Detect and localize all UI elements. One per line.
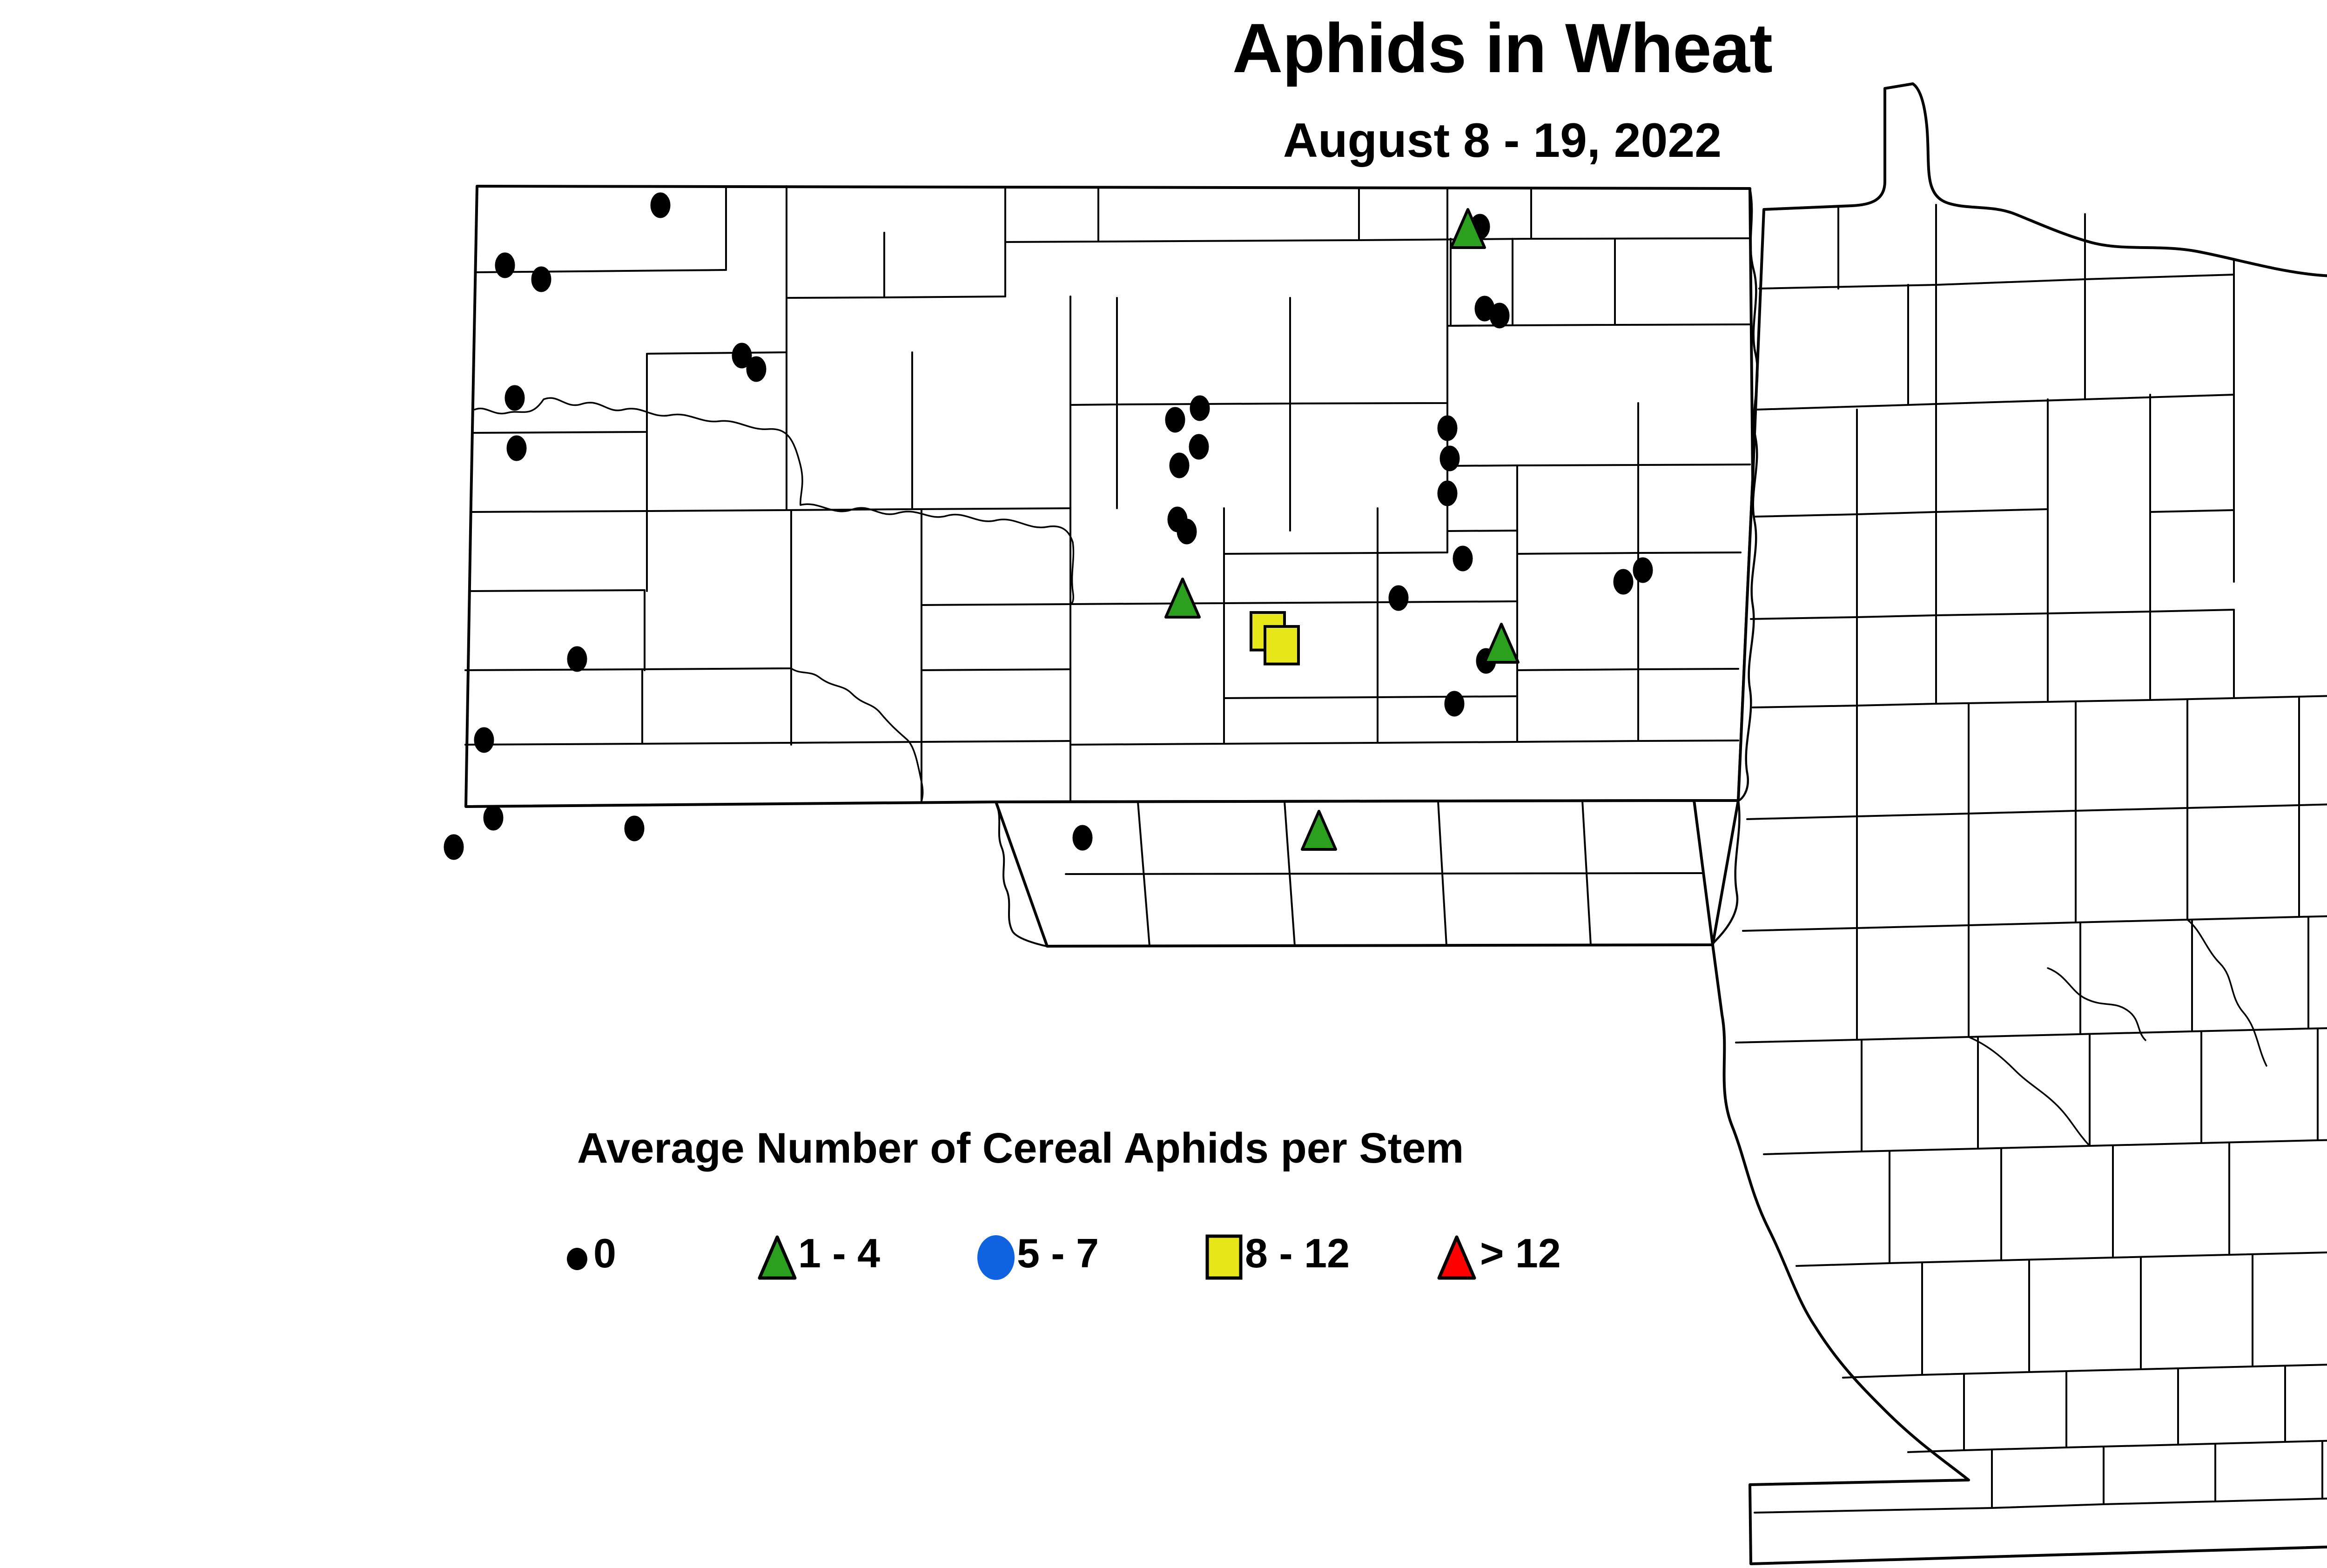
- triangle-shape: [760, 1237, 795, 1278]
- data-point-zero: [484, 806, 503, 830]
- data-point-zero: [1389, 586, 1408, 610]
- legend-item-label: 5 - 7: [1017, 1230, 1099, 1277]
- triangle-icon: [749, 1219, 805, 1299]
- data-point-zero: [475, 728, 493, 752]
- data-point-zero: [444, 835, 463, 859]
- map-canvas: Aphids in Wheat August 8 - 19, 2022: [0, 0, 2327, 1568]
- circle-shape: [977, 1235, 1015, 1280]
- legend-item-label: 1 - 4: [798, 1230, 880, 1277]
- data-point-zero: [568, 647, 586, 671]
- data-point-zero: [1490, 303, 1509, 328]
- legend-title: Average Number of Cereal Aphids per Stem: [577, 1124, 1601, 1173]
- data-point-zero: [1190, 396, 1209, 420]
- data-point-zero: [625, 816, 644, 841]
- data-point-zero: [1073, 826, 1092, 850]
- circle-small-shape: [567, 1248, 587, 1270]
- triangle-shape: [1439, 1237, 1474, 1278]
- square-shape: [1207, 1236, 1241, 1278]
- data-point-zero: [1438, 481, 1457, 505]
- square-icon: [1196, 1219, 1252, 1299]
- north-dakota-outline: [466, 186, 1753, 807]
- data-point-zero: [496, 253, 514, 277]
- data-point-zero: [1453, 546, 1472, 571]
- triangle-icon: [1429, 1219, 1485, 1299]
- data-point-zero: [532, 267, 551, 291]
- data-point-8-12: [1265, 626, 1298, 664]
- data-point-zero: [1440, 446, 1459, 471]
- data-point-zero: [1634, 558, 1652, 582]
- data-point-zero: [1438, 416, 1457, 440]
- data-point-zero: [1190, 435, 1208, 459]
- data-point-zero: [747, 357, 766, 381]
- aphid-distribution-map: [0, 0, 2327, 1568]
- data-point-zero: [1170, 453, 1189, 478]
- data-point-zero: [1614, 570, 1633, 594]
- data-point-zero: [507, 436, 526, 460]
- data-point-zero: [1445, 692, 1464, 716]
- legend-item-label: 8 - 12: [1245, 1230, 1350, 1277]
- legend-item-label: > 12: [1480, 1230, 1561, 1277]
- data-point-zero: [1166, 408, 1184, 432]
- data-point-zero: [1177, 519, 1196, 544]
- circle-icon: [968, 1219, 1024, 1299]
- state-outlines: [465, 84, 2327, 1564]
- data-point-zero: [505, 386, 524, 410]
- data-point-zero: [651, 193, 670, 217]
- legend-item-label: 0: [593, 1230, 616, 1277]
